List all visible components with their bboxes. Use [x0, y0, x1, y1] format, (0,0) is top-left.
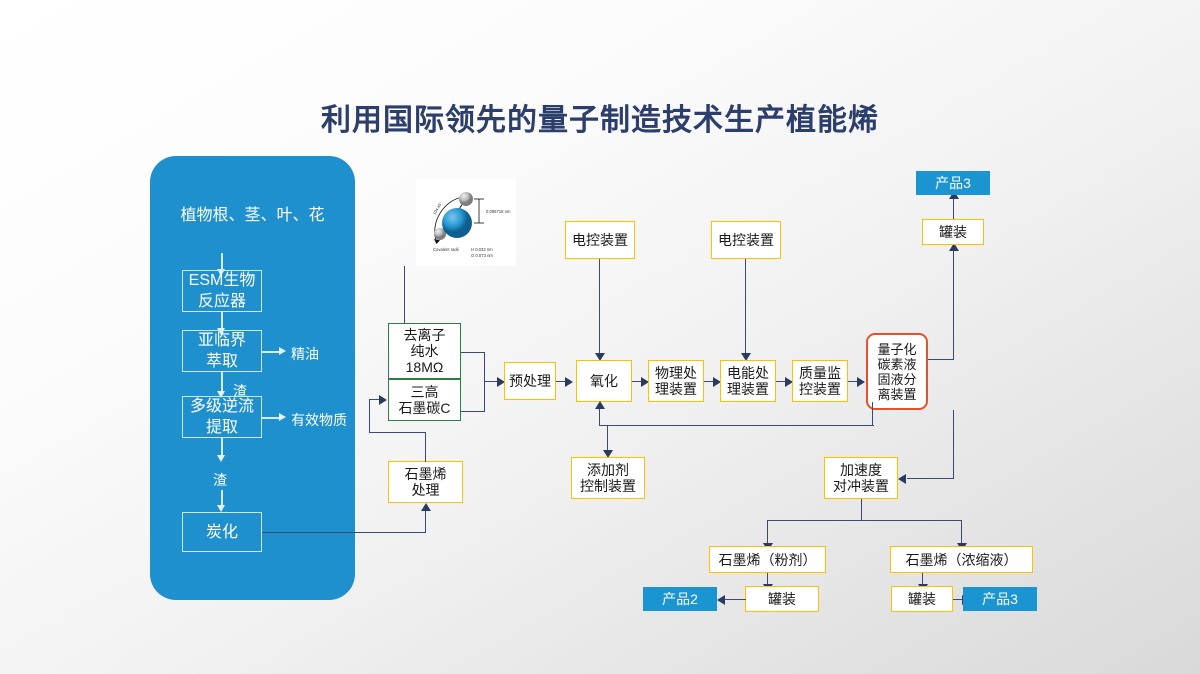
gc-in-arrow: [379, 395, 387, 405]
molecule-connector-v1: [404, 266, 405, 324]
gt-to-gc-v2: [369, 399, 370, 433]
quantum-carbon-separator[interactable]: 量子化 碳素液 固液分 离装置: [866, 333, 928, 410]
product-badge-2[interactable]: 产品2: [643, 587, 717, 611]
merge-to-pretreat: [484, 381, 498, 382]
ac-line2: 控制装置: [580, 478, 636, 494]
dw-line2: 纯水: [404, 343, 446, 359]
plant-source-text: 植物根、茎、叶、花: [150, 203, 355, 228]
accel-in-arrow: [898, 474, 906, 484]
process-pretreatment[interactable]: 预处理: [504, 362, 556, 400]
step-carbonization-label: 炭化: [206, 522, 238, 543]
molecule-radius-h: H 0.032 nm: [471, 247, 493, 252]
dw-line3: 18MΩ: [404, 359, 446, 375]
graphene-treatment-in-arrow: [421, 503, 431, 511]
deionized-water-label: 去离子 纯水 18MΩ: [404, 327, 446, 375]
control-unit-1-label: 电控装置: [572, 232, 628, 248]
graphene-liquid-box[interactable]: 石墨烯（浓缩液）: [890, 546, 1033, 573]
output-active-substance: 有效物质: [291, 410, 347, 430]
page-title: 利用国际领先的量子制造技术生产植能烯: [0, 95, 1200, 139]
step-multistage-countercurrent-label: 多级逆流 提取: [190, 396, 254, 438]
panel-arrow-5: [217, 505, 225, 512]
chain-arrow-1: [565, 377, 573, 387]
graphite-carbon-label: 三高 石墨碳C: [398, 384, 450, 416]
panel-connector-4: [221, 438, 223, 456]
active-substance-arrow: [279, 413, 286, 421]
control-unit-2-label: 电控装置: [718, 232, 774, 248]
product-badge-3[interactable]: 产品3: [963, 587, 1037, 611]
process-physical-treatment[interactable]: 物理处 理装置: [648, 360, 704, 402]
quality-monitor-label: 质量监 控装置: [799, 365, 841, 397]
step-esm-bioreactor-label: ESM生物 反应器: [189, 270, 256, 312]
oxidation-label: 氧化: [590, 373, 618, 389]
additive-control-unit[interactable]: 添加剂 控制装置: [571, 457, 645, 499]
qu-line1: 量子化: [877, 342, 916, 357]
qm-line2: 控装置: [799, 381, 841, 397]
gc-line1: 三高: [398, 384, 450, 400]
canning-unit-liquid[interactable]: 罐装: [891, 586, 953, 612]
ah-line1: 加速度: [833, 462, 889, 478]
product-top-label: 产品3: [935, 175, 971, 191]
accel-to-liquid: [961, 520, 962, 544]
gt-to-gc-h: [369, 432, 426, 433]
graphene-treatment-unit[interactable]: 石墨烯 处理: [388, 461, 463, 503]
water-molecule-svg: 0.095718 nm 104.45° Covalent radii H 0.0…: [416, 179, 516, 266]
subcritical-line1: 亚临界: [198, 330, 246, 351]
recycle-to-oxidation: [599, 408, 600, 426]
acceleration-hedge-unit[interactable]: 加速度 对冲装置: [824, 457, 898, 499]
oxidation-recycle-arrow: [595, 401, 605, 409]
gt-to-gc-entry: [369, 399, 379, 400]
essential-oil-arrow: [279, 347, 286, 355]
water-molecule-image: 0.095718 nm 104.45° Covalent radii H 0.0…: [416, 179, 516, 266]
recycle-to-additive: [607, 425, 608, 451]
pt-line1: 物理处: [655, 365, 697, 381]
recycle-riser: [872, 402, 873, 426]
dw-line1: 去离子: [404, 327, 446, 343]
plant-source-label: 植物根、茎、叶、花: [150, 203, 355, 228]
esm-line2: 反应器: [189, 291, 256, 312]
gt-line2: 处理: [405, 482, 447, 498]
quantum-to-accel-v: [953, 410, 954, 478]
graphene-liquid-label: 石墨烯（浓缩液）: [906, 552, 1018, 568]
gc-to-pretreat-v: [484, 381, 485, 412]
canning-unit-powder[interactable]: 罐装: [745, 586, 819, 612]
product-badge-top[interactable]: 产品3: [916, 171, 990, 195]
active-substance-connector: [262, 417, 280, 419]
canning-top-label: 罐装: [939, 224, 967, 240]
recycle-line: [599, 425, 874, 426]
dw-to-pretreat-h: [461, 352, 485, 353]
material-graphite-carbon[interactable]: 三高 石墨碳C: [388, 379, 461, 421]
esm-line1: ESM生物: [189, 270, 256, 291]
control-1-down: [599, 259, 600, 354]
process-oxidation[interactable]: 氧化: [576, 360, 632, 402]
canning-top-to-product: [953, 198, 954, 219]
electric-treatment-label: 电能处 理装置: [727, 365, 769, 397]
control-unit-2[interactable]: 电控装置: [711, 221, 781, 259]
essential-oil-connector: [262, 351, 280, 353]
physical-treatment-label: 物理处 理装置: [655, 365, 697, 397]
multistage-line2: 提取: [190, 417, 254, 438]
ah-line2: 对冲装置: [833, 478, 889, 494]
control-2-down: [745, 259, 746, 354]
multistage-line1: 多级逆流: [190, 396, 254, 417]
canning-powder-label: 罐装: [768, 591, 796, 607]
molecule-radii-title: Covalent radii: [433, 247, 459, 252]
product-3-label: 产品3: [982, 591, 1018, 607]
slide-canvas: 利用国际领先的量子制造技术生产植能烯 植物根、茎、叶、花 ESM生物 反应器 亚…: [0, 0, 1200, 674]
quantum-to-accel-h: [907, 478, 954, 479]
et-line2: 理装置: [727, 381, 769, 397]
gc-to-pretreat-h: [461, 411, 485, 412]
quantum-carbon-separator-label: 量子化 碳素液 固液分 离装置: [877, 342, 916, 402]
step-multistage-countercurrent[interactable]: 多级逆流 提取: [182, 396, 262, 438]
qm-line1: 质量监: [799, 365, 841, 381]
gt-line1: 石墨烯: [405, 466, 447, 482]
pretreatment-label: 预处理: [509, 373, 551, 389]
dw-to-pretreat-v: [484, 352, 485, 382]
accel-split-h: [767, 520, 962, 521]
accel-to-powder: [767, 520, 768, 544]
panel-connector-5: [221, 490, 223, 506]
step-subcritical-extraction-label: 亚临界 萃取: [198, 330, 246, 372]
canning-unit-top[interactable]: 罐装: [922, 219, 984, 245]
process-quality-monitor[interactable]: 质量监 控装置: [792, 360, 848, 402]
gt-to-gc-v1: [425, 432, 426, 462]
panel-connector-3: [221, 372, 223, 392]
molecule-bond-length: 0.095718 nm: [486, 209, 511, 214]
carbonization-out-h: [262, 532, 426, 533]
step-subcritical-extraction[interactable]: 亚临界 萃取: [182, 330, 262, 372]
panel-connector-2: [221, 312, 223, 329]
panel-arrow-4: [217, 455, 225, 462]
step-esm-bioreactor[interactable]: ESM生物 反应器: [182, 270, 262, 312]
qu-line4: 离装置: [877, 387, 916, 402]
quantum-to-canning-top: [953, 250, 954, 360]
product2-arrow: [717, 595, 725, 605]
ac-line1: 添加剂: [580, 462, 636, 478]
chain-arrow-5: [857, 377, 865, 387]
pt-line2: 理装置: [655, 381, 697, 397]
graphene-powder-label: 石墨烯（粉剂）: [719, 552, 817, 568]
process-electric-treatment[interactable]: 电能处 理装置: [720, 360, 776, 402]
output-essential-oil: 精油: [291, 344, 319, 364]
quantum-top-link: [928, 359, 954, 360]
gc-line2: 石墨碳C: [398, 400, 450, 416]
qu-line3: 固液分: [877, 372, 916, 387]
panel-connector-1: [221, 253, 223, 270]
molecule-radius-o: O 0.073 nm: [471, 253, 493, 258]
accel-out-v: [861, 499, 862, 521]
carbonization-out-v: [425, 511, 426, 533]
molecule-angle: 104.45°: [432, 201, 444, 216]
canning-liquid-label: 罐装: [908, 591, 936, 607]
graphene-powder-box[interactable]: 石墨烯（粉剂）: [709, 546, 826, 573]
et-line1: 电能处: [727, 365, 769, 381]
acceleration-hedge-label: 加速度 对冲装置: [833, 462, 889, 494]
control-unit-1[interactable]: 电控装置: [565, 221, 635, 259]
graphene-treatment-label: 石墨烯 处理: [405, 466, 447, 498]
subcritical-line2: 萃取: [198, 351, 246, 372]
product-2-label: 产品2: [662, 591, 698, 607]
residue-label-2: 渣: [213, 470, 227, 490]
material-deionized-water[interactable]: 去离子 纯水 18MΩ: [388, 323, 461, 379]
qu-line2: 碳素液: [877, 357, 916, 372]
canning-powder-to-product: [725, 599, 746, 600]
additive-control-label: 添加剂 控制装置: [580, 462, 636, 494]
step-carbonization[interactable]: 炭化: [182, 512, 262, 552]
